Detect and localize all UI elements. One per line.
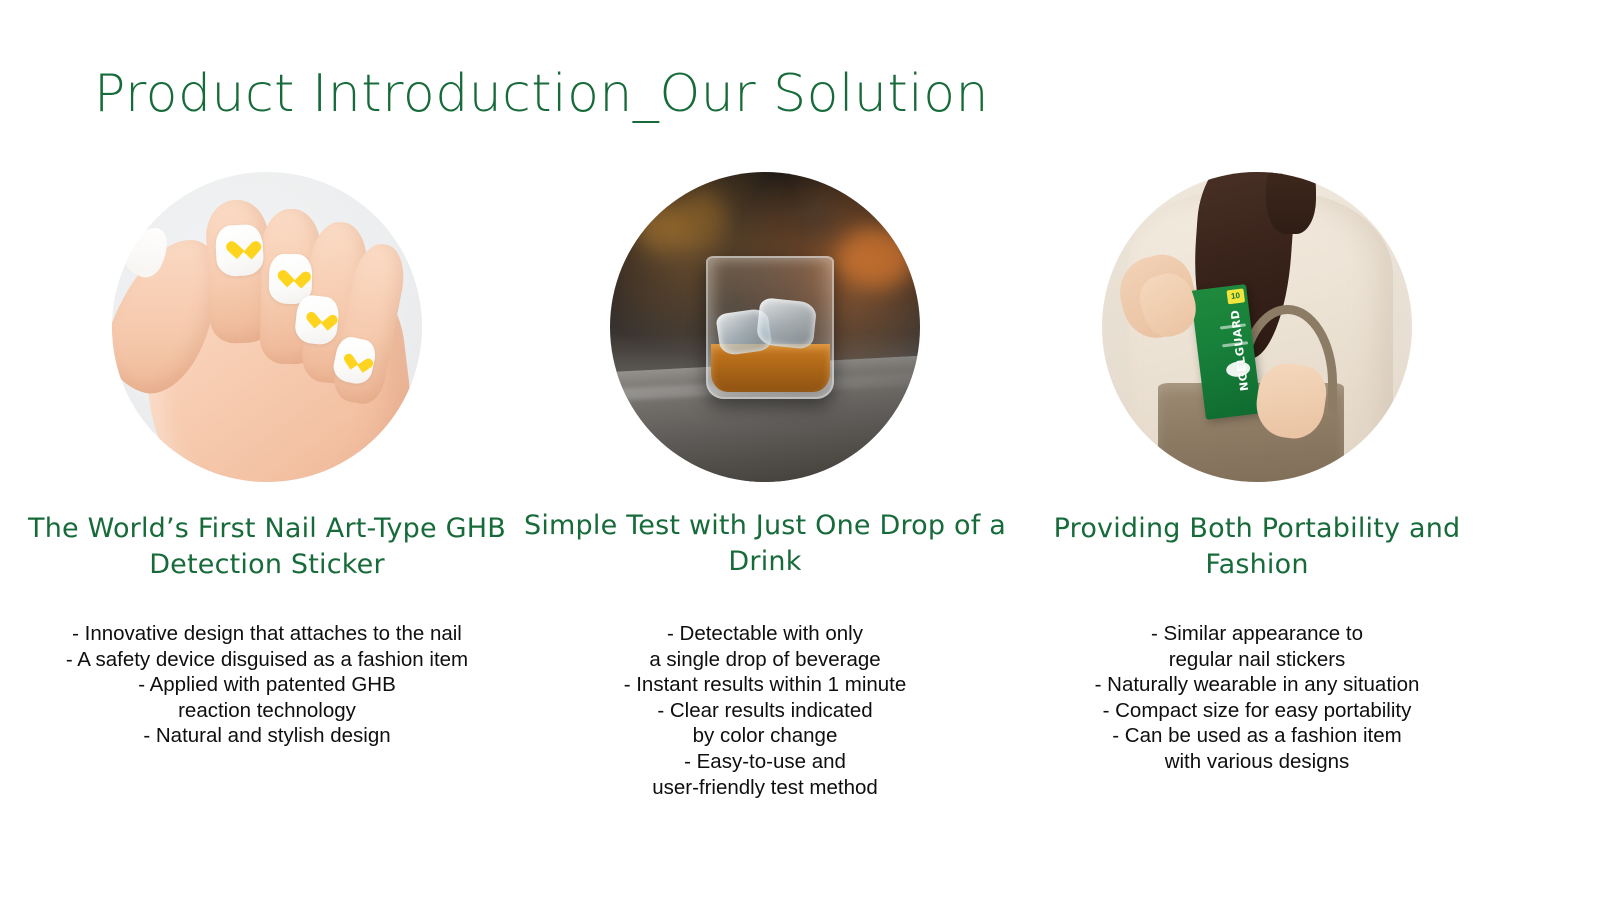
bokeh-light [839,228,915,288]
handbag-product-image: 10 NGELGUARD [1102,172,1412,482]
column-3-heading: Providing Both Portability and Fashion [1007,511,1507,583]
solution-column-3: 10 NGELGUARD Providing Both Portability … [1007,0,1507,900]
column-3-body: - Similar appearance to regular nail sti… [1007,621,1507,775]
handbag-product-photo: 10 NGELGUARD [1102,172,1412,482]
hair-back-shape [1266,172,1316,234]
slide: Product Introduction_Our Solution [0,0,1600,900]
bokeh-light [678,191,724,245]
column-2-body: - Detectable with only a single drop of … [515,621,1015,800]
whisky-glass-image [610,172,920,482]
package-brand-label: NGELGUARD [1228,309,1251,392]
ice-cube [755,297,817,350]
solution-column-2: Simple Test with Just One Drop of a Drin… [515,0,1015,900]
nail-art-photo [112,172,422,482]
nail-art-image [112,172,422,482]
solution-column-1: The World’s First Nail Art-Type GHB Dete… [17,0,517,900]
solution-columns: The World’s First Nail Art-Type GHB Dete… [0,0,1600,900]
column-1-heading: The World’s First Nail Art-Type GHB Dete… [17,511,517,583]
package-count-badge: 10 [1226,288,1245,304]
tumbler-glass [706,256,834,400]
column-2-heading: Simple Test with Just One Drop of a Drin… [515,508,1015,580]
whisky-glass-photo [610,172,920,482]
column-1-body: - Innovative design that attaches to the… [17,621,517,749]
bokeh-light [796,197,836,237]
